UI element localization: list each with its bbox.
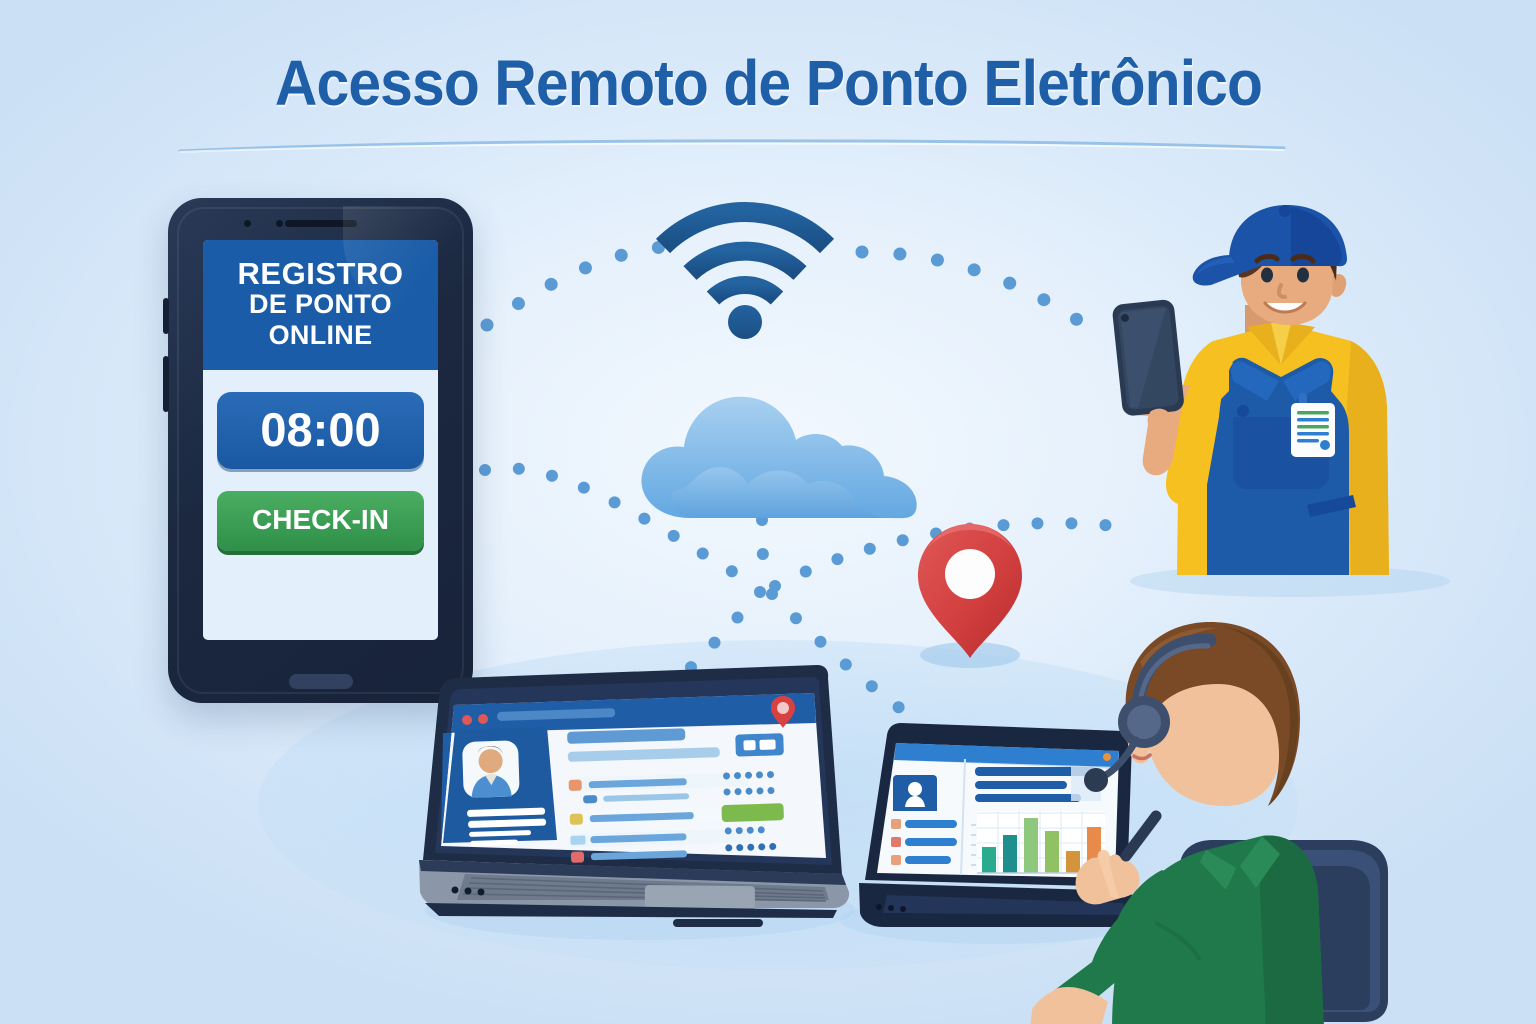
check-in-button[interactable]: CHECK-IN <box>217 491 424 551</box>
current-time-display: 08:00 <box>217 392 424 469</box>
phone-volume-button[interactable] <box>163 298 169 334</box>
app-header-line-3: ONLINE <box>213 320 428 350</box>
employee-dashboard-laptop[interactable] <box>405 660 855 935</box>
phone-speaker <box>285 220 357 227</box>
phone-camera <box>244 220 251 227</box>
phone-home-button[interactable] <box>289 674 353 689</box>
cloud-icon <box>630 368 930 528</box>
phone-screen[interactable]: REGISTRO DE PONTO ONLINE 08:00 CHECK-IN <box>203 240 438 640</box>
smartphone-device[interactable]: REGISTRO DE PONTO ONLINE 08:00 CHECK-IN <box>168 198 473 703</box>
wifi-icon <box>655 210 835 335</box>
support-agent-with-headset <box>1030 600 1450 1024</box>
map-pin-icon <box>905 518 1035 668</box>
app-header-line-1: REGISTRO <box>213 258 428 290</box>
phone-sensor <box>276 220 283 227</box>
app-header-line-2: DE PONTO <box>213 290 428 320</box>
app-header: REGISTRO DE PONTO ONLINE <box>203 240 438 370</box>
field-worker-with-phone <box>1095 205 1455 595</box>
infographic-canvas: Acesso Remoto de Ponto Eletrônico .dline… <box>0 0 1536 1024</box>
phone-power-button[interactable] <box>163 356 169 412</box>
app-body: 08:00 CHECK-IN <box>203 370 438 551</box>
